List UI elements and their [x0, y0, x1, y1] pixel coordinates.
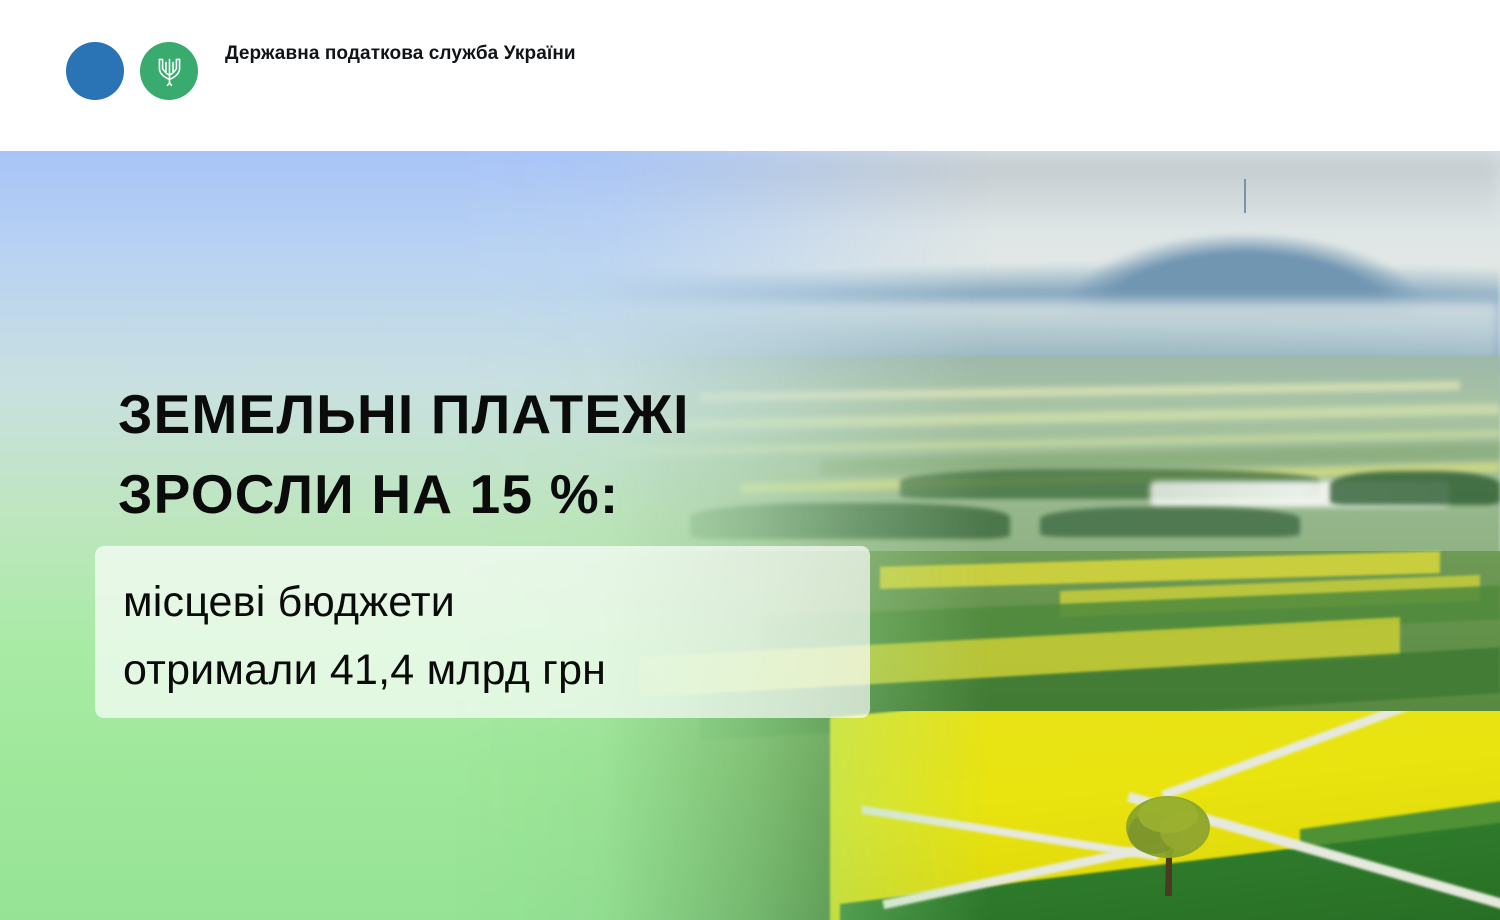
green-circle-icon	[140, 42, 198, 100]
tax-service-logo[interactable]: Державна податкова служба України	[66, 41, 576, 101]
logo-marks	[66, 41, 218, 101]
subtitle-text: місцеві бюджети отримали 41,4 млрд грн	[123, 568, 606, 704]
tree-line	[690, 503, 1010, 539]
site-header: Державна податкова служба України	[0, 0, 1500, 151]
ukraine-trident-icon	[156, 55, 183, 87]
foreground-fields	[0, 711, 1500, 920]
logo-wordmark: Державна податкова служба України	[225, 41, 576, 67]
landscape-photo	[0, 151, 1500, 920]
summit-mast	[1244, 179, 1246, 213]
page-title: ЗЕМЕЛЬНІ ПЛАТЕЖІ ЗРОСЛИ НА 15 %:	[118, 374, 690, 534]
lone-tree-icon	[1108, 781, 1228, 896]
banner-canvas: Державна податкова служба України	[0, 0, 1500, 920]
tree-line	[1330, 471, 1500, 505]
tree-line	[1040, 507, 1300, 537]
blue-circle-icon	[66, 42, 124, 100]
